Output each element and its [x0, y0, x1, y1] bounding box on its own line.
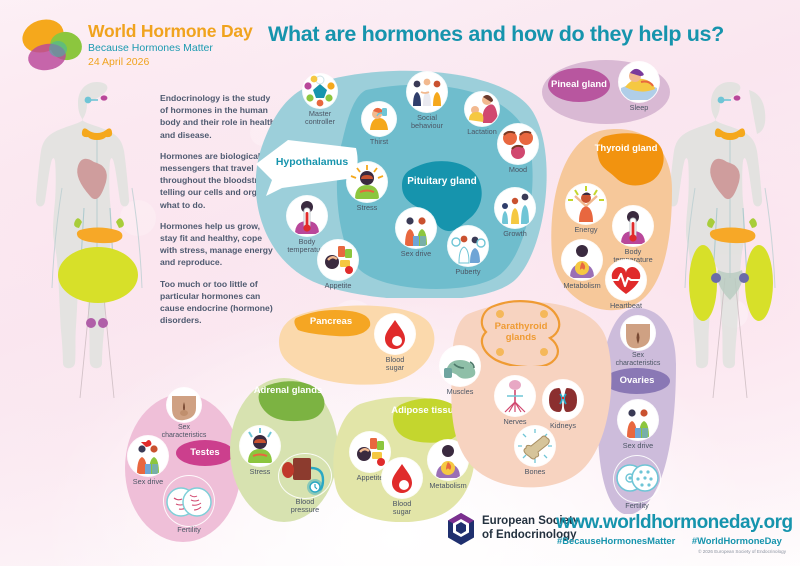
appetite-eating-icon	[318, 240, 358, 280]
copyright-notice: © 2026 European Society of Endocrinology	[698, 549, 786, 554]
icon-label: Sex drive	[390, 250, 442, 258]
icon-item-sex-characteristics[interactable]: Sex characteristics	[158, 388, 210, 440]
icon-item-growth[interactable]: Growth	[490, 188, 540, 238]
icon-label: Stress	[342, 204, 392, 212]
stress-person-icon	[240, 426, 280, 466]
icon-label: Energy	[562, 226, 610, 234]
brand-title: World Hormone Day	[88, 22, 253, 40]
testes-marker	[86, 318, 96, 328]
hashtags: #BecauseHormonesMatter #WorldHormoneDay	[557, 535, 796, 546]
pancreas-shape	[288, 308, 374, 346]
blood-pressure-cuff-icon	[279, 454, 331, 498]
icon-label: Sleep	[618, 104, 660, 112]
footer: European Society of Endocrinology www.wo…	[0, 504, 800, 560]
icon-item-kidneys[interactable]: Kidneys	[538, 380, 588, 430]
brand-block: World Hormone Day Because Hormones Matte…	[88, 22, 253, 68]
nerves-icon	[495, 376, 535, 416]
adrenal-marker	[116, 218, 124, 228]
icon-item-body-temperature[interactable]: Body temperature	[606, 206, 660, 265]
icon-item-mood[interactable]: Mood	[494, 124, 542, 174]
group-adrenal-glands[interactable]: Adrenal glands Stress Blood pressure	[228, 372, 340, 524]
sex-drive-couple-icon	[618, 400, 658, 440]
icon-item-muscles[interactable]: Muscles	[434, 346, 486, 396]
blood-sugar-drop-icon	[375, 314, 415, 354]
ovary-marker	[739, 273, 749, 283]
icon-item-sex-characteristics[interactable]: Sex characteristics	[614, 316, 662, 368]
adrenal-marker	[749, 218, 757, 228]
sex-characteristics-male-icon	[167, 388, 201, 422]
adipose-marker	[745, 245, 773, 321]
icon-item-stress[interactable]: Stress	[342, 162, 392, 212]
sex-drive-couple-icon	[128, 436, 168, 476]
adipose-marker	[689, 245, 717, 321]
icon-item-appetite[interactable]: Appetite	[312, 240, 364, 290]
group-hypothalamus-pituitary[interactable]: Hypothalamus Pituitary gland Master cont…	[256, 68, 548, 298]
sex-characteristics-female-icon	[621, 316, 655, 350]
icon-item-social-behaviour[interactable]: Social behaviour	[398, 72, 456, 131]
stress-person-icon	[347, 162, 387, 202]
icon-label: Puberty	[442, 268, 494, 276]
icon-label: Muscles	[434, 388, 486, 396]
bones-icon	[515, 426, 555, 466]
growth-children-icon	[495, 188, 535, 228]
muscles-arm-icon	[440, 346, 480, 386]
icon-item-sex-drive[interactable]: Sex drive	[612, 400, 664, 450]
group-parathyroid-glands[interactable]: Parathyroid glands Muscles Nerves Kidney…	[428, 298, 614, 488]
european-society-of-endocrinology-logo-icon	[444, 512, 478, 546]
social-behaviour-icon	[407, 72, 447, 112]
master-controller-icon	[303, 74, 337, 108]
icon-label: Growth	[490, 230, 540, 238]
icon-label: Social behaviour	[398, 114, 456, 131]
icon-item-sleep[interactable]: Sleep	[618, 62, 660, 112]
mood-faces-icon	[498, 124, 538, 164]
icon-item-blood-sugar[interactable]: Blood sugar	[372, 314, 418, 373]
group-pineal-gland[interactable]: Pineal gland Sleep	[540, 58, 672, 130]
icon-item-bones[interactable]: Bones	[510, 426, 560, 476]
infographic-poster: World Hormone Day Because Hormones Matte…	[0, 0, 800, 566]
blood-sugar-drop-icon	[382, 458, 422, 498]
brand-subtitle: Because Hormones Matter	[88, 42, 253, 55]
icon-label: Sex drive	[612, 442, 664, 450]
world-hormone-day-logo-icon	[14, 16, 90, 74]
label-testes: Testes	[176, 440, 234, 466]
sex-drive-couple-icon	[396, 208, 436, 248]
group-pancreas[interactable]: Pancreas Blood sugar	[276, 302, 436, 388]
hashtag-world-hormone-day[interactable]: #WorldHormoneDay	[692, 535, 782, 546]
adipose-marker	[58, 247, 138, 303]
kidneys-icon	[543, 380, 583, 420]
fertility-egg-icon	[614, 456, 660, 502]
puberty-teens-icon	[448, 226, 488, 266]
website-url[interactable]: www.worldhormoneday.org	[556, 512, 793, 534]
page-title: What are hormones and how do they help u…	[268, 22, 768, 47]
male-body-silhouette	[22, 78, 172, 423]
icon-item-sex-drive[interactable]: Sex drive	[390, 208, 442, 258]
lactation-breastfeeding-icon	[465, 92, 499, 126]
label-pituitary-gland: Pituitary gland	[402, 176, 482, 187]
label-pancreas: Pancreas	[290, 316, 372, 327]
body-temperature-thermometer-icon	[287, 196, 327, 236]
icon-item-fertility[interactable]: Fertility	[608, 456, 666, 510]
hashtag-because-hormones-matter[interactable]: #BecauseHormonesMatter	[557, 535, 675, 546]
icon-item-nerves[interactable]: Nerves	[490, 376, 540, 426]
icon-label: Blood sugar	[372, 356, 418, 373]
label-pineal-gland: Pineal gland	[548, 68, 610, 102]
label-parathyroid-glands: Parathyroid glands	[478, 322, 564, 343]
icon-item-energy[interactable]: Energy	[562, 184, 610, 234]
icon-label: Mood	[494, 166, 542, 174]
group-thyroid-gland[interactable]: Thyroid gland Energy Body temperature Me…	[548, 128, 674, 314]
icon-label: Sex characteristics	[614, 352, 662, 368]
energy-person-icon	[566, 184, 606, 224]
icon-label: Master controller	[292, 110, 348, 127]
icon-item-thirst[interactable]: Thirst	[356, 102, 402, 146]
body-temperature-thermometer-icon	[613, 206, 653, 246]
brand-date: 24 April 2026	[88, 56, 253, 69]
icon-label: Thirst	[356, 138, 402, 146]
icon-label: Appetite	[312, 282, 364, 290]
thyroid-gland-shape	[586, 132, 666, 188]
ovary-marker	[711, 273, 721, 283]
heartbeat-heart-icon	[606, 260, 646, 300]
icon-item-puberty[interactable]: Puberty	[442, 226, 494, 276]
label-thyroid-gland: Thyroid gland	[588, 144, 664, 155]
sleep-person-icon	[619, 62, 659, 102]
thirst-drinking-icon	[362, 102, 396, 136]
testes-marker	[98, 318, 108, 328]
icon-item-master-controller[interactable]: Master controller	[292, 74, 348, 127]
icon-label: Bones	[510, 468, 560, 476]
metabolism-person-icon	[562, 240, 602, 280]
